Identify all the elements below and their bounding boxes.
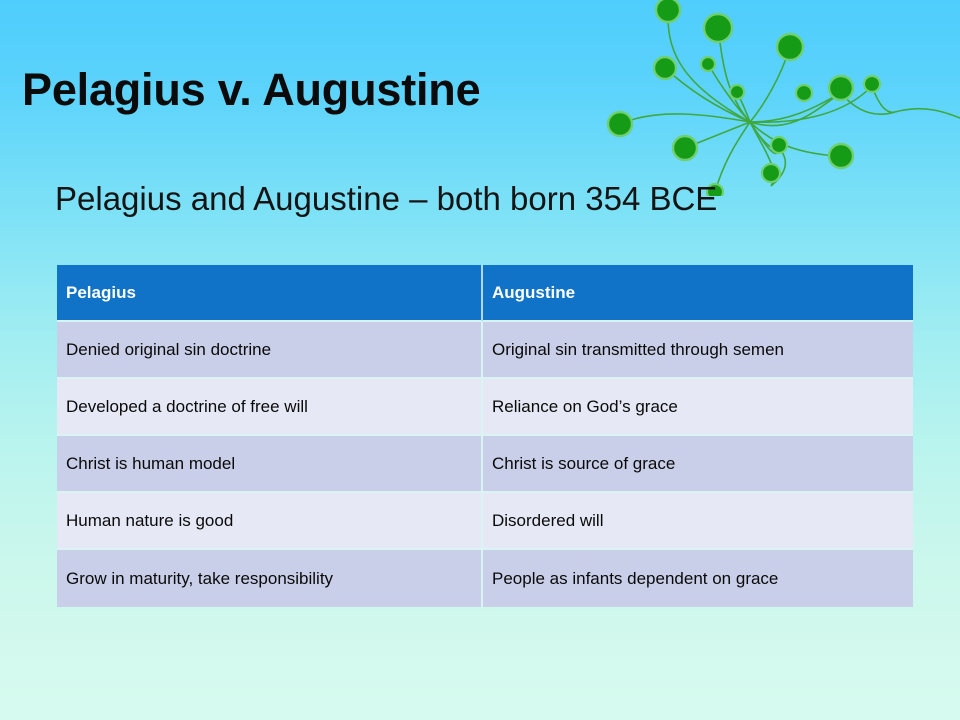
- vine-leaf-nodes: [608, 0, 880, 196]
- column-header-augustine: Augustine: [483, 265, 913, 322]
- table-header-row: Pelagius Augustine: [57, 265, 913, 322]
- column-header-pelagius: Pelagius: [57, 265, 483, 322]
- cell-augustine: Christ is source of grace: [483, 436, 913, 493]
- cell-pelagius: Grow in maturity, take responsibility: [57, 550, 483, 607]
- table-row: Human nature is good Disordered will: [57, 493, 913, 550]
- table-row: Grow in maturity, take responsibility Pe…: [57, 550, 913, 607]
- cell-pelagius: Christ is human model: [57, 436, 483, 493]
- cell-pelagius: Denied original sin doctrine: [57, 322, 483, 379]
- cell-augustine: People as infants dependent on grace: [483, 550, 913, 607]
- table-row: Denied original sin doctrine Original si…: [57, 322, 913, 379]
- table-row: Developed a doctrine of free will Relian…: [57, 379, 913, 436]
- cell-augustine: Original sin transmitted through semen: [483, 322, 913, 379]
- table-row: Christ is human model Christ is source o…: [57, 436, 913, 493]
- vine-branch-decoration: [595, 0, 960, 196]
- slide-title: Pelagius v. Augustine: [22, 64, 480, 116]
- cell-augustine: Reliance on God’s grace: [483, 379, 913, 436]
- cell-pelagius: Human nature is good: [57, 493, 483, 550]
- comparison-table: Pelagius Augustine Denied original sin d…: [57, 265, 913, 607]
- slide-subtitle: Pelagius and Augustine – both born 354 B…: [55, 180, 717, 218]
- vine-stems: [620, 10, 960, 192]
- cell-pelagius: Developed a doctrine of free will: [57, 379, 483, 436]
- cell-augustine: Disordered will: [483, 493, 913, 550]
